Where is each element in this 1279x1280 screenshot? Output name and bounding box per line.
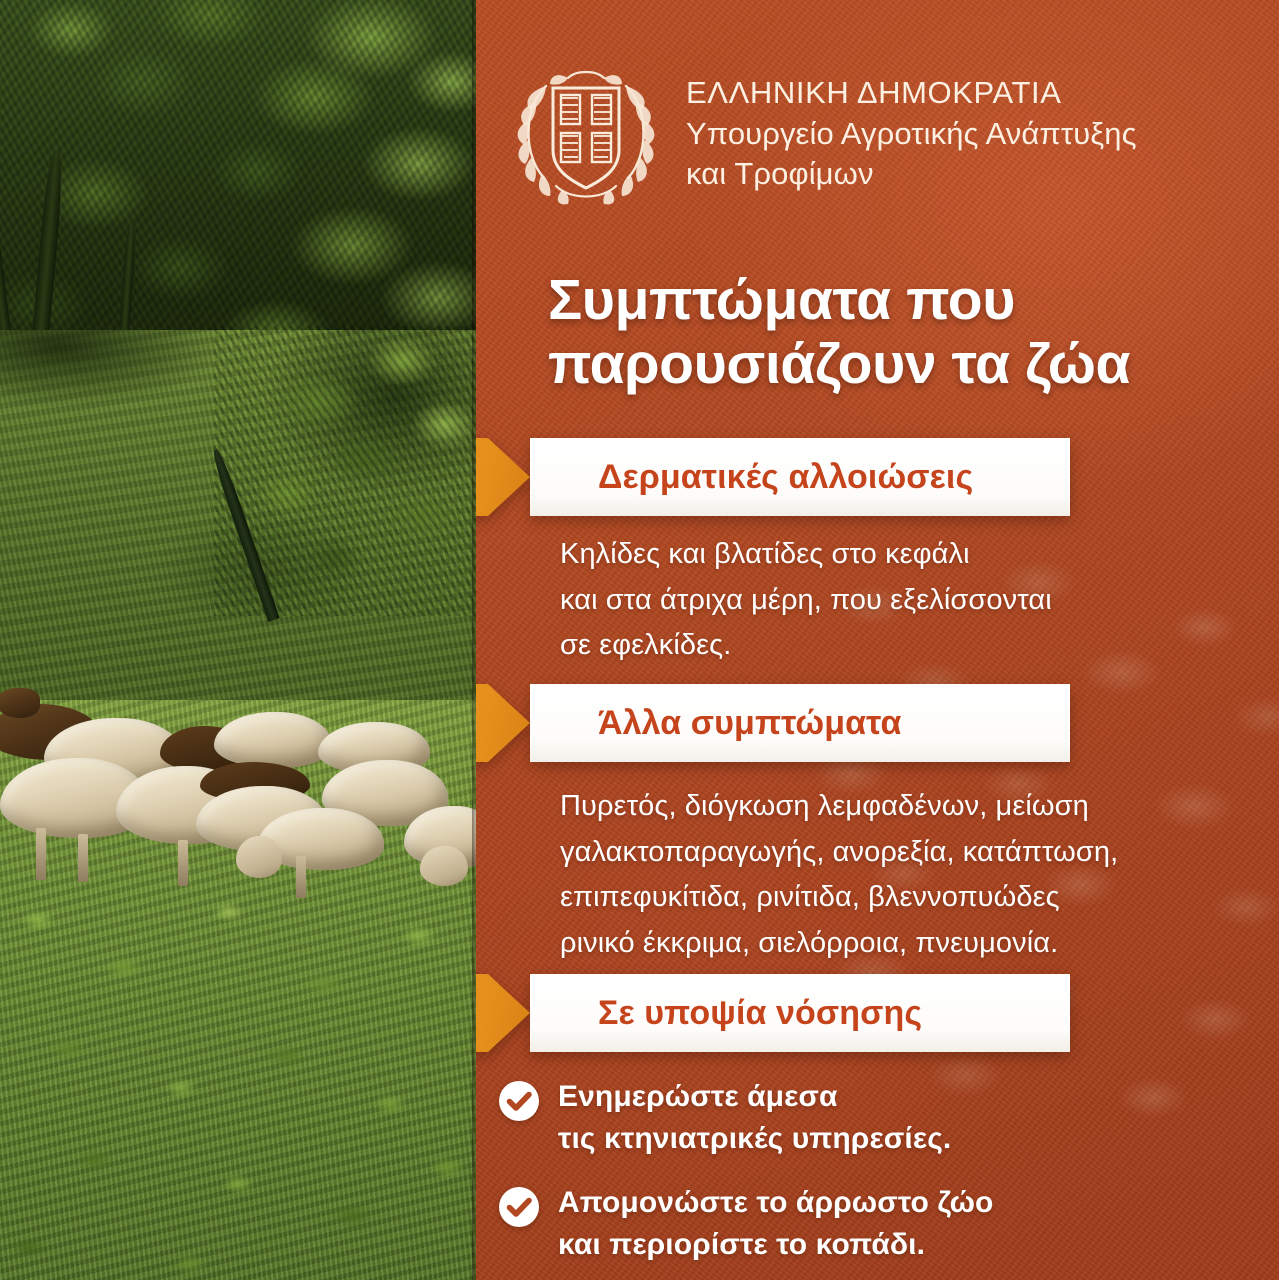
body-line: Κηλίδες και βλατίδες στο κεφάλι bbox=[560, 532, 1220, 578]
grazing-sheep bbox=[214, 712, 332, 768]
section-banner-body: Σε υποψία νόσησης bbox=[530, 974, 1070, 1052]
chevron-arrow-icon bbox=[476, 974, 530, 1052]
ministry-line-3: και Τροφίμων bbox=[686, 154, 1137, 195]
section-banner-body: Άλλα συμπτώματα bbox=[530, 684, 1070, 762]
greek-coat-of-arms-emblem bbox=[512, 58, 660, 206]
body-line: Πυρετός, διόγκωση λεμφαδένων, μείωση bbox=[560, 784, 1250, 830]
pasture-photo bbox=[0, 0, 476, 1280]
bullet-line: τις κτηνιατρικές υπηρεσίες. bbox=[558, 1118, 951, 1160]
body-line: και στα άτριχα μέρη, που εξελίσσονται bbox=[560, 578, 1220, 624]
list-item: Απομονώστε το άρρωστο ζώο και περιορίστε… bbox=[498, 1182, 1258, 1266]
body-line: γαλακτοπαραγωγής, ανορεξία, κατάπτωση, bbox=[560, 830, 1250, 876]
body-line: σε εφελκίδες. bbox=[560, 623, 1220, 669]
check-circle-icon bbox=[498, 1186, 540, 1228]
ministry-name-block: ΕΛΛΗΝΙΚΗ ΔΗΜΟΚΡΑΤΙΑ Υπουργείο Αγροτικής … bbox=[686, 69, 1137, 196]
foreground-foliage bbox=[0, 880, 476, 1280]
body-line: ρινικό έκκριμα, σιελόρροια, πνευμονία. bbox=[560, 921, 1250, 967]
chevron-arrow-icon bbox=[476, 438, 530, 516]
page-title-line-2: παρουσιάζουν τα ζώα bbox=[548, 332, 1248, 396]
section-body-skin-lesions: Κηλίδες και βλατίδες στο κεφάλι και στα … bbox=[560, 532, 1220, 669]
list-item-text: Ενημερώστε άμεσα τις κτηνιατρικές υπηρεσ… bbox=[558, 1076, 951, 1160]
forest-canopy-image bbox=[0, 0, 476, 372]
list-item: Ενημερώστε άμεσα τις κτηνιατρικές υπηρεσ… bbox=[498, 1076, 1258, 1160]
list-item-text: Απομονώστε το άρρωστο ζώο και περιορίστε… bbox=[558, 1182, 993, 1266]
ministry-line-1: ΕΛΛΗΝΙΚΗ ΔΗΜΟΚΡΑΤΙΑ bbox=[686, 73, 1137, 114]
bullet-line: Απομονώστε το άρρωστο ζώο bbox=[558, 1182, 993, 1224]
section-banner-label: Σε υποψία νόσησης bbox=[598, 994, 922, 1033]
sheep-leg bbox=[78, 834, 88, 882]
sheep-leg bbox=[36, 828, 46, 880]
check-circle-icon bbox=[498, 1080, 540, 1122]
bullet-line: και περιορίστε το κοπάδι. bbox=[558, 1224, 993, 1266]
infographic-poster: ΕΛΛΗΝΙΚΗ ΔΗΜΟΚΡΑΤΙΑ Υπουργείο Αγροτικής … bbox=[0, 0, 1279, 1280]
ministry-header: ΕΛΛΗΝΙΚΗ ΔΗΜΟΚΡΑΤΙΑ Υπουργείο Αγροτικής … bbox=[512, 58, 1137, 206]
page-title: Συμπτώματα που παρουσιάζουν τα ζώα bbox=[548, 268, 1248, 397]
content-panel: ΕΛΛΗΝΙΚΗ ΔΗΜΟΚΡΑΤΙΑ Υπουργείο Αγροτικής … bbox=[476, 0, 1279, 1280]
sheep-head bbox=[236, 836, 282, 878]
section-banner-label: Δερματικές αλλοιώσεις bbox=[598, 458, 973, 497]
action-bullet-list: Ενημερώστε άμεσα τις κτηνιατρικές υπηρεσ… bbox=[498, 1076, 1258, 1280]
section-banner-label: Άλλα συμπτώματα bbox=[598, 704, 901, 743]
chevron-arrow-icon bbox=[476, 684, 530, 762]
section-body-other-symptoms: Πυρετός, διόγκωση λεμφαδένων, μείωση γαλ… bbox=[560, 784, 1250, 966]
goat-head bbox=[0, 688, 40, 718]
body-line: επιπεφυκίτιδα, ρινίτιδα, βλεννοπυώδες bbox=[560, 875, 1250, 921]
bullet-line: Ενημερώστε άμεσα bbox=[558, 1076, 951, 1118]
ministry-line-2: Υπουργείο Αγροτικής Ανάπτυξης bbox=[686, 114, 1137, 155]
section-banner-skin-lesions: Δερματικές αλλοιώσεις bbox=[476, 438, 1070, 516]
section-banner-other-symptoms: Άλλα συμπτώματα bbox=[476, 684, 1070, 762]
section-banner-suspected-disease: Σε υποψία νόσησης bbox=[476, 974, 1070, 1052]
section-banner-body: Δερματικές αλλοιώσεις bbox=[530, 438, 1070, 516]
page-title-line-1: Συμπτώματα που bbox=[548, 268, 1248, 332]
